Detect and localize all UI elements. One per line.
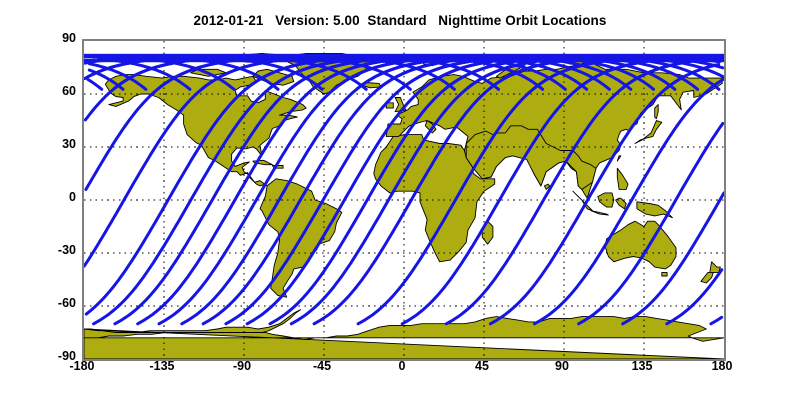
y-tick-3: 0 bbox=[22, 190, 76, 204]
orbit-track-descending-8 bbox=[535, 79, 724, 323]
orbit-track-descending-0 bbox=[182, 56, 530, 323]
map-plot-area bbox=[82, 39, 726, 361]
y-tick-1: -60 bbox=[22, 296, 76, 310]
orbit-track-descending-12 bbox=[711, 317, 722, 324]
orbit-track-descending--2 bbox=[94, 56, 442, 323]
orbit-track-descending-14 bbox=[159, 56, 507, 323]
orbit-track-descending-15 bbox=[203, 56, 551, 323]
orbit-track-descending-17 bbox=[291, 56, 639, 323]
y-tick-6: 90 bbox=[22, 31, 76, 45]
orbit-track-descending-9 bbox=[579, 123, 723, 323]
x-tick-5: 45 bbox=[452, 359, 512, 373]
map-canvas bbox=[84, 41, 724, 359]
y-tick-0: -90 bbox=[22, 349, 76, 363]
y-tick-5: 60 bbox=[22, 84, 76, 98]
x-tick-3: -45 bbox=[292, 359, 352, 373]
orbit-track-descending-10 bbox=[623, 193, 724, 324]
orbit-map-figure: 2012-01-21 Version: 5.00 Standard Nightt… bbox=[0, 0, 800, 400]
orbit-track-descending-1 bbox=[226, 56, 574, 323]
orbit-track-layer bbox=[84, 41, 724, 359]
x-tick-7: 135 bbox=[612, 359, 672, 373]
y-tick-4: 30 bbox=[22, 137, 76, 151]
orbit-polar-convergence-band bbox=[84, 54, 724, 59]
orbit-track-descending-13 bbox=[115, 56, 463, 323]
orbit-track-descending-16 bbox=[247, 56, 595, 323]
orbit-track-descending-11 bbox=[667, 270, 722, 324]
orbit-track-descending-4 bbox=[358, 56, 706, 323]
orbit-track-descending-11 bbox=[84, 56, 375, 266]
orbit-track-descending-7 bbox=[490, 64, 718, 323]
x-tick-4: 0 bbox=[372, 359, 432, 373]
orbit-polar-convergence-band-secondary bbox=[84, 59, 724, 62]
x-tick-8: 180 bbox=[692, 359, 752, 373]
orbit-track-descending-2 bbox=[270, 56, 618, 323]
orbit-track-descending-3 bbox=[314, 56, 662, 323]
figure-title: 2012-01-21 Version: 5.00 Standard Nightt… bbox=[0, 13, 800, 28]
x-tick-6: 90 bbox=[532, 359, 592, 373]
x-tick-2: -90 bbox=[212, 359, 272, 373]
x-tick-1: -135 bbox=[132, 359, 192, 373]
orbit-track-descending--1 bbox=[138, 56, 486, 323]
y-tick-2: -30 bbox=[22, 243, 76, 257]
orbit-track-ascending-2 bbox=[88, 79, 102, 89]
